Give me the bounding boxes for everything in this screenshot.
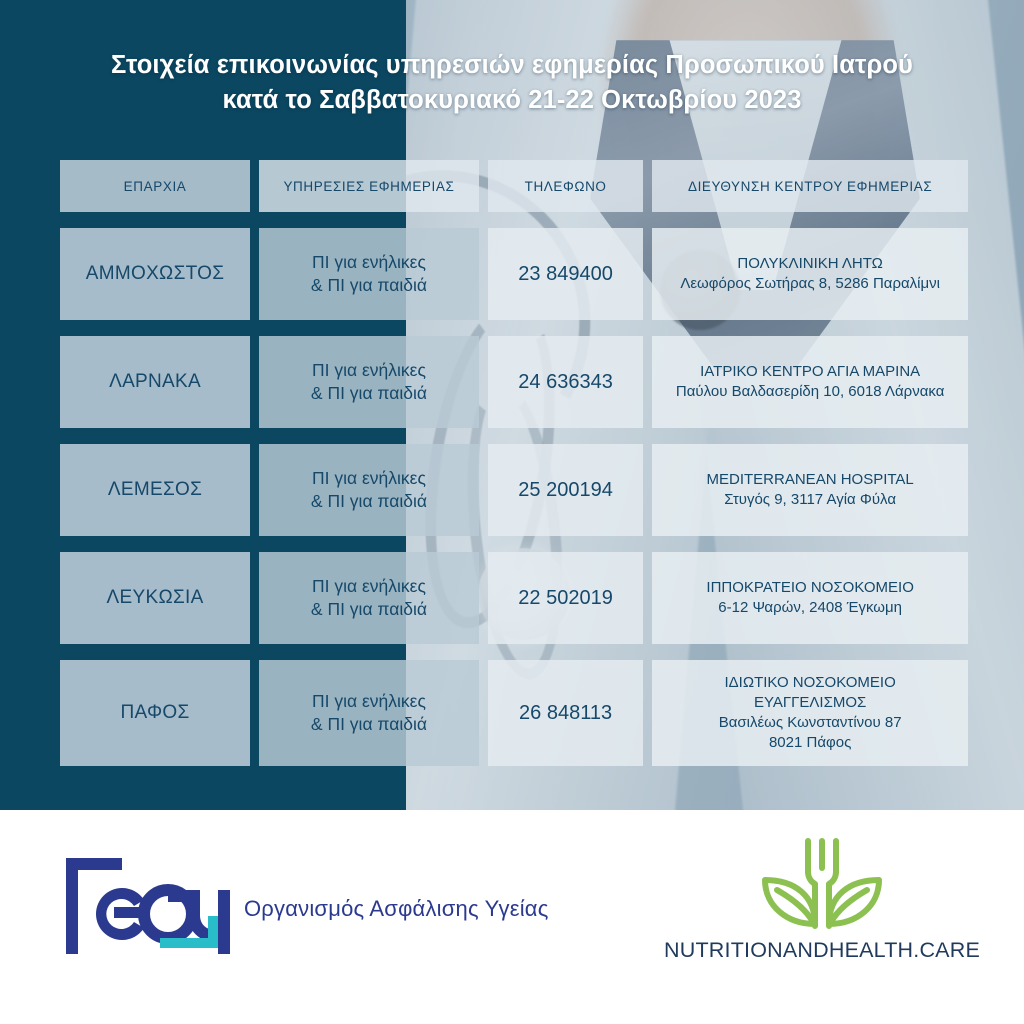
cell-address-street: Λεωφόρος Σωτήρας 8, 5286 Παραλίμνι	[680, 274, 940, 294]
cell-address: ΙΔΙΩΤΙΚΟ ΝΟΣΟΚΟΜΕΙΟ ΕΥΑΓΓΕΛΙΣΜΟΣ Βασιλέω…	[652, 660, 968, 766]
cell-services-line2: & ΠΙ για παιδιά	[311, 490, 427, 513]
cell-services-line2: & ΠΙ για παιδιά	[311, 598, 427, 621]
gesy-tagline: Οργανισμός Ασφάλισης Υγείας	[244, 896, 549, 922]
nutrition-logo-group: NUTRITIONANDHEALTH.CARE	[672, 838, 972, 963]
cell-phone: 23 849400	[488, 228, 643, 320]
cell-phone: 26 848113	[488, 660, 643, 766]
page-title-line2: κατά το Σαββατοκυριακό 21-22 Οκτωβρίου 2…	[36, 83, 988, 118]
cell-phone: 25 200194	[488, 444, 643, 536]
cell-district: ΠΑΦΟΣ	[60, 660, 250, 766]
cell-address-street: Βασιλέως Κωνσταντίνου 87	[719, 713, 902, 733]
page-title: Στοιχεία επικοινωνίας υπηρεσιών εφημερία…	[0, 48, 1024, 117]
cell-district: ΛΕΜΕΣΟΣ	[60, 444, 250, 536]
cell-address-postal: 8021 Πάφος	[719, 733, 902, 753]
footer-section: Οργανισμός Ασφάλισης Υγείας	[0, 810, 1024, 1024]
nutrition-label: NUTRITIONANDHEALTH.CARE	[664, 938, 980, 963]
cell-services-line1: ΠΙ για ενήλικες	[311, 467, 427, 490]
cell-district: ΑΜΜΟΧΩΣΤΟΣ	[60, 228, 250, 320]
table-header-row: ΕΠΑΡΧΙΑ ΥΠΗΡΕΣΙΕΣ ΕΦΗΜΕΡΙΑΣ ΤΗΛΕΦΩΝΟ ΔΙΕ…	[60, 160, 968, 212]
table-row: ΛΕΜΕΣΟΣ ΠΙ για ενήλικες & ΠΙ για παιδιά …	[60, 444, 968, 536]
cell-address-street: Στυγός 9, 3117 Αγία Φύλα	[707, 490, 914, 510]
cell-address-name: ΙΔΙΩΤΙΚΟ ΝΟΣΟΚΟΜΕΙΟ	[719, 673, 902, 693]
cell-address: ΠΟΛΥΚΛΙΝΙΚΗ ΛΗΤΩ Λεωφόρος Σωτήρας 8, 528…	[652, 228, 968, 320]
cell-services-line2: & ΠΙ για παιδιά	[311, 274, 427, 297]
cell-district: ΛΕΥΚΩΣΙΑ	[60, 552, 250, 644]
cell-services-line1: ΠΙ για ενήλικες	[311, 575, 427, 598]
cell-address-name2: ΕΥΑΓΓΕΛΙΣΜΟΣ	[719, 693, 902, 713]
cell-services: ΠΙ για ενήλικες & ΠΙ για παιδιά	[259, 660, 479, 766]
cell-address: ΙΠΠΟΚΡΑΤΕΙΟ ΝΟΣΟΚΟΜΕΙΟ 6-12 Ψαρών, 2408 …	[652, 552, 968, 644]
fork-and-leaves-icon	[757, 838, 887, 930]
gesy-logo-group: Οργανισμός Ασφάλισης Υγείας	[60, 848, 549, 964]
cell-services-line2: & ΠΙ για παιδιά	[311, 382, 427, 405]
page-title-line1: Στοιχεία επικοινωνίας υπηρεσιών εφημερία…	[111, 51, 913, 79]
table-row: ΛΕΥΚΩΣΙΑ ΠΙ για ενήλικες & ΠΙ για παιδιά…	[60, 552, 968, 644]
cell-address-name: MEDITERRANEAN HOSPITAL	[707, 470, 914, 490]
cell-phone: 22 502019	[488, 552, 643, 644]
cell-address-name: ΙΠΠΟΚΡΑΤΕΙΟ ΝΟΣΟΚΟΜΕΙΟ	[706, 578, 913, 598]
table-row: ΑΜΜΟΧΩΣΤΟΣ ΠΙ για ενήλικες & ΠΙ για παιδ…	[60, 228, 968, 320]
cell-services: ΠΙ για ενήλικες & ΠΙ για παιδιά	[259, 336, 479, 428]
table-row: ΛΑΡΝΑΚΑ ΠΙ για ενήλικες & ΠΙ για παιδιά …	[60, 336, 968, 428]
gesy-logo-icon	[60, 848, 230, 964]
duty-services-table: ΕΠΑΡΧΙΑ ΥΠΗΡΕΣΙΕΣ ΕΦΗΜΕΡΙΑΣ ΤΗΛΕΦΩΝΟ ΔΙΕ…	[60, 160, 968, 766]
cell-address-street: 6-12 Ψαρών, 2408 Έγκωμη	[706, 598, 913, 618]
cell-address-street: Παύλου Βαλδασερίδη 10, 6018 Λάρνακα	[676, 382, 944, 402]
hero-section: Στοιχεία επικοινωνίας υπηρεσιών εφημερία…	[0, 0, 1024, 810]
cell-services-line1: ΠΙ για ενήλικες	[311, 359, 427, 382]
table-header-phone: ΤΗΛΕΦΩΝΟ	[488, 160, 643, 212]
cell-services: ΠΙ για ενήλικες & ΠΙ για παιδιά	[259, 228, 479, 320]
cell-address-name: ΠΟΛΥΚΛΙΝΙΚΗ ΛΗΤΩ	[680, 254, 940, 274]
cell-phone: 24 636343	[488, 336, 643, 428]
poster-root: Στοιχεία επικοινωνίας υπηρεσιών εφημερία…	[0, 0, 1024, 1024]
table-row: ΠΑΦΟΣ ΠΙ για ενήλικες & ΠΙ για παιδιά 26…	[60, 660, 968, 766]
cell-address-name: ΙΑΤΡΙΚΟ ΚΕΝΤΡΟ ΑΓΙΑ ΜΑΡΙΝΑ	[676, 362, 944, 382]
cell-district: ΛΑΡΝΑΚΑ	[60, 336, 250, 428]
table-header-address: ΔΙΕΥΘΥΝΣΗ ΚΕΝΤΡΟΥ ΕΦΗΜΕΡΙΑΣ	[652, 160, 968, 212]
table-header-district: ΕΠΑΡΧΙΑ	[60, 160, 250, 212]
cell-address: ΙΑΤΡΙΚΟ ΚΕΝΤΡΟ ΑΓΙΑ ΜΑΡΙΝΑ Παύλου Βαλδασ…	[652, 336, 968, 428]
table-header-services: ΥΠΗΡΕΣΙΕΣ ΕΦΗΜΕΡΙΑΣ	[259, 160, 479, 212]
cell-services-line1: ΠΙ για ενήλικες	[311, 690, 427, 713]
cell-services: ΠΙ για ενήλικες & ΠΙ για παιδιά	[259, 552, 479, 644]
cell-services-line1: ΠΙ για ενήλικες	[311, 251, 427, 274]
cell-address: MEDITERRANEAN HOSPITAL Στυγός 9, 3117 Αγ…	[652, 444, 968, 536]
cell-services-line2: & ΠΙ για παιδιά	[311, 713, 427, 736]
cell-services: ΠΙ για ενήλικες & ΠΙ για παιδιά	[259, 444, 479, 536]
